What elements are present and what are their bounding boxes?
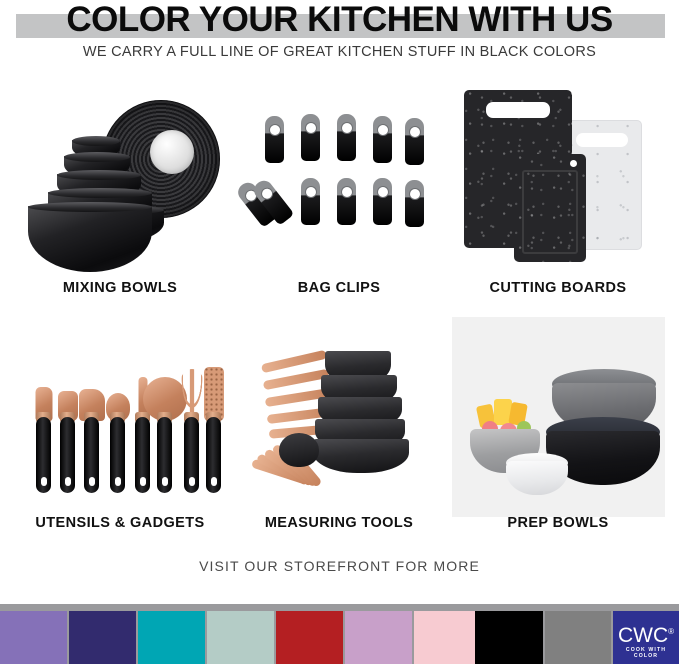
product-tile-utensils-gadgets[interactable]: UTENSILS & GADGETS <box>14 317 226 552</box>
product-label: PREP BOWLS <box>452 515 664 531</box>
product-tile-measuring-tools[interactable]: MEASURING TOOLS <box>233 317 445 552</box>
product-tile-prep-bowls[interactable]: PREP BOWLS <box>452 317 664 552</box>
product-row-2: UTENSILS & GADGETS <box>0 317 679 552</box>
mixing-bowls-photo <box>14 82 226 282</box>
promo-banner: COLOR YOUR KITCHEN WITH US WE CARRY A FU… <box>0 0 679 664</box>
swatch-orchid <box>345 611 412 664</box>
swatch-sage <box>207 611 274 664</box>
page-title: COLOR YOUR KITCHEN WITH US <box>0 0 679 40</box>
swatch-black <box>475 611 543 664</box>
logo-mark-text: CWC <box>618 624 668 647</box>
product-label: UTENSILS & GADGETS <box>14 515 226 531</box>
logo-trademark: ® <box>668 627 674 636</box>
logo-tagline: COOK WITH COLOR <box>613 647 679 659</box>
bag-clips-photo <box>233 82 445 282</box>
page-subtitle: WE CARRY A FULL LINE OF GREAT KITCHEN ST… <box>0 44 679 60</box>
product-label: MEASURING TOOLS <box>233 515 445 531</box>
swatch-teal <box>138 611 205 664</box>
product-row-1: MIXING BOWLS <box>0 82 679 317</box>
swatch-gray <box>545 611 611 664</box>
utensils-gadgets-photo <box>14 317 226 517</box>
cutting-boards-photo <box>452 82 664 282</box>
brand-logo: CWC® COOK WITH COLOR <box>613 621 679 659</box>
product-label: CUTTING BOARDS <box>452 280 664 296</box>
measuring-tools-photo <box>233 317 445 517</box>
swatch-red <box>276 611 343 664</box>
swatch-navy <box>69 611 136 664</box>
color-swatch-strip: CWC® COOK WITH COLOR <box>0 604 679 664</box>
swatch-logo-blue: CWC® COOK WITH COLOR <box>613 611 679 664</box>
storefront-note: VISIT OUR STOREFRONT FOR MORE <box>0 558 679 574</box>
product-label: BAG CLIPS <box>233 280 445 296</box>
product-tile-cutting-boards[interactable]: CUTTING BOARDS <box>452 82 664 317</box>
product-grid: MIXING BOWLS <box>0 82 679 552</box>
swatch-blush-pink <box>414 611 481 664</box>
product-label: MIXING BOWLS <box>14 280 226 296</box>
product-tile-mixing-bowls[interactable]: MIXING BOWLS <box>14 82 226 317</box>
product-tile-bag-clips[interactable]: BAG CLIPS <box>233 82 445 317</box>
swatch-purple <box>0 611 67 664</box>
prep-bowls-photo <box>452 317 664 517</box>
